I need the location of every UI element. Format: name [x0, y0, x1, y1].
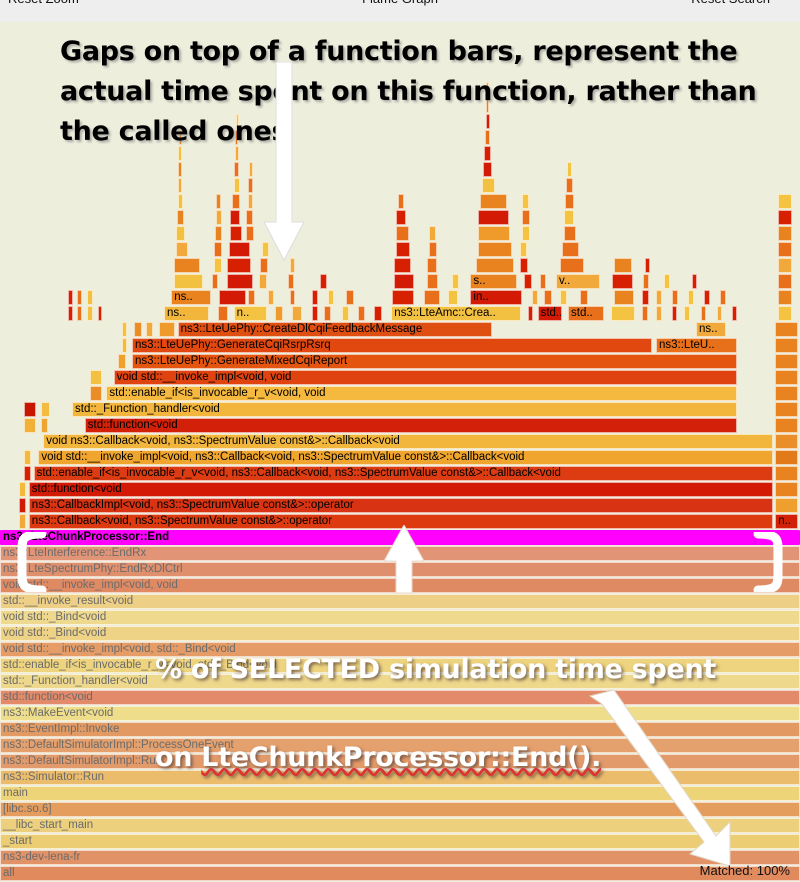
flame-frame[interactable] — [374, 306, 381, 321]
flame-frame[interactable]: ns3::LteSpectrumPhy::EndRxDlCtrl — [0, 562, 800, 577]
flame-frame[interactable] — [174, 274, 203, 289]
flame-frame[interactable] — [90, 386, 102, 401]
flame-frame[interactable] — [524, 274, 532, 289]
flame-frame[interactable]: in.. — [470, 290, 521, 305]
flame-frame[interactable] — [522, 210, 530, 225]
flame-frame[interactable]: std::function<void — [0, 690, 800, 705]
flame-frame[interactable] — [229, 242, 250, 257]
flame-frame[interactable] — [290, 258, 296, 273]
flame-frame[interactable] — [159, 322, 175, 337]
flame-frame[interactable] — [248, 178, 253, 193]
flame-frame[interactable]: void std::__invoke_impl<void, void — [114, 370, 737, 385]
flame-frame[interactable] — [778, 258, 792, 273]
flame-frame[interactable] — [230, 226, 241, 241]
flame-frame[interactable] — [614, 290, 633, 305]
flame-frame[interactable] — [656, 306, 662, 321]
flame-frame[interactable]: std::enable_if<is_invocable_r_v<void, vo… — [106, 386, 736, 401]
flame-frame[interactable] — [775, 466, 797, 481]
flame-frame[interactable] — [216, 210, 222, 225]
flame-frame[interactable]: std.. — [568, 306, 604, 321]
flame-frame[interactable] — [146, 322, 153, 337]
flame-frame[interactable] — [246, 226, 253, 241]
flame-frame[interactable]: ns3::EventImpl::Invoke — [0, 722, 800, 737]
flame-frame[interactable]: void std::_Bind<void — [0, 610, 800, 625]
flame-frame[interactable] — [24, 450, 31, 465]
flame-frame[interactable] — [19, 482, 26, 497]
flame-frame[interactable]: ns3::DefaultSimulatorImpl::ProcessOneEve… — [0, 738, 800, 753]
flame-frame[interactable] — [520, 258, 528, 273]
flame-frame[interactable] — [174, 258, 200, 273]
flame-frame[interactable] — [775, 418, 797, 433]
flame-frame[interactable] — [219, 290, 245, 305]
flame-frame[interactable] — [775, 402, 797, 417]
flame-frame[interactable]: n.. — [234, 306, 268, 321]
flame-frame[interactable] — [227, 258, 251, 273]
flame-frame[interactable] — [249, 162, 253, 177]
flame-frame[interactable] — [396, 226, 409, 241]
flame-frame[interactable] — [778, 290, 792, 305]
flame-frame[interactable] — [178, 162, 182, 177]
flame-frame[interactable] — [292, 306, 302, 321]
flame-frame[interactable] — [214, 242, 221, 257]
flame-frame[interactable] — [248, 290, 255, 305]
flame-frame[interactable] — [328, 290, 334, 305]
flame-frame[interactable] — [262, 242, 268, 257]
flame-frame[interactable] — [90, 370, 102, 385]
flame-frame[interactable] — [664, 274, 670, 289]
flame-frame[interactable] — [179, 130, 182, 145]
flame-frame[interactable] — [775, 322, 797, 337]
flame-frame[interactable]: ns3::LteUePhy::GenerateMixedCqiReport — [132, 354, 737, 369]
flame-frame[interactable] — [775, 338, 797, 353]
reset-search-button[interactable]: Reset Search — [691, 0, 770, 6]
flame-frame[interactable] — [234, 178, 240, 193]
flame-frame[interactable]: n.. — [775, 514, 797, 529]
flame-frame[interactable] — [358, 306, 364, 321]
flame-frame[interactable] — [672, 306, 677, 321]
flame-frame[interactable] — [701, 306, 706, 321]
flame-frame[interactable]: _start — [0, 834, 800, 849]
flame-frame[interactable]: ns3::Simulator::Run — [0, 770, 800, 785]
flame-frame[interactable]: void std::_Bind<void — [0, 626, 800, 641]
flame-frame[interactable] — [259, 274, 267, 289]
flame-frame[interactable] — [424, 290, 440, 305]
flame-frame[interactable] — [642, 290, 649, 305]
flame-frame[interactable] — [485, 130, 491, 145]
flame-frame[interactable]: ns3::LteInterference::EndRx — [0, 546, 800, 561]
flame-frame[interactable] — [98, 306, 103, 321]
flame-frame[interactable]: void std::__invoke_impl<void, void — [0, 578, 800, 593]
flamegraph-toolbar: Reset Zoom Flame Graph Reset Search ic — [0, 0, 800, 22]
flame-frame[interactable]: void std::__invoke_impl<void, ns3::Callb… — [38, 450, 772, 465]
flame-frame[interactable] — [246, 210, 252, 225]
flame-frame[interactable] — [230, 210, 240, 225]
flame-frame[interactable]: ns3::LteAmc::Crea.. — [391, 306, 521, 321]
flame-frame[interactable] — [520, 242, 527, 257]
page-title: Flame Graph — [0, 0, 800, 6]
flame-frame[interactable] — [24, 466, 31, 481]
flame-frame[interactable] — [540, 274, 546, 289]
flame-frame[interactable] — [448, 290, 458, 305]
flame-frame[interactable] — [236, 114, 239, 129]
flame-frame[interactable] — [118, 354, 126, 369]
flame-frame[interactable] — [290, 290, 296, 305]
flame-frame[interactable] — [398, 194, 404, 209]
flame-frame[interactable] — [564, 210, 574, 225]
flame-frame[interactable] — [643, 274, 649, 289]
flame-frame[interactable] — [778, 194, 792, 209]
flame-frame[interactable] — [275, 306, 283, 321]
flame-frame[interactable] — [720, 290, 726, 305]
flame-frame[interactable] — [486, 98, 489, 113]
flame-frame[interactable] — [452, 274, 459, 289]
flame-frame[interactable] — [346, 290, 353, 305]
flame-frame[interactable]: std::function<void — [85, 418, 737, 433]
flame-frame[interactable]: ns.. — [171, 290, 211, 305]
flame-frame[interactable] — [566, 178, 572, 193]
flame-frame[interactable] — [24, 402, 36, 417]
flame-frame[interactable] — [260, 258, 268, 273]
flame-frame[interactable] — [177, 210, 184, 225]
flame-frame[interactable] — [642, 306, 648, 321]
flame-frame[interactable] — [775, 434, 797, 449]
flame-frame[interactable] — [232, 194, 240, 209]
flame-frame[interactable] — [717, 306, 723, 321]
flame-frame[interactable]: ns3::LteUePhy::GenerateCqiRsrpRsrq — [132, 338, 652, 353]
flame-frame[interactable] — [429, 226, 436, 241]
flame-frame[interactable] — [178, 146, 182, 161]
flame-frame[interactable]: ns.. — [696, 322, 726, 337]
flame-frame[interactable] — [564, 226, 576, 241]
flame-frame[interactable] — [478, 226, 510, 241]
flame-frame[interactable] — [565, 194, 574, 209]
flame-frame[interactable] — [212, 274, 218, 289]
flame-frame[interactable] — [87, 290, 93, 305]
flame-frame[interactable] — [775, 498, 797, 513]
flame-frame[interactable] — [684, 306, 690, 321]
flame-frame[interactable] — [227, 274, 253, 289]
flame-frame[interactable] — [342, 306, 348, 321]
flame-frame[interactable] — [87, 306, 93, 321]
flame-frame[interactable] — [41, 418, 48, 433]
flame-frame[interactable] — [214, 258, 221, 273]
flame-frame[interactable] — [176, 242, 188, 257]
flame-frame[interactable] — [612, 274, 633, 289]
flame-frame[interactable] — [482, 178, 496, 193]
flame-frame[interactable] — [614, 258, 632, 273]
flame-frame[interactable] — [392, 290, 414, 305]
flame-frame[interactable] — [268, 290, 274, 305]
flame-frame[interactable] — [560, 290, 567, 305]
flame-frame[interactable] — [77, 306, 82, 321]
flame-frame[interactable]: std::enable_if<is_invocable_r_v<void, st… — [0, 658, 800, 673]
flame-frame[interactable] — [528, 306, 533, 321]
flame-frame[interactable]: std::_Function_handler<void — [0, 674, 800, 689]
flame-frame[interactable] — [234, 162, 239, 177]
flame-frame[interactable] — [775, 450, 797, 465]
flame-frame[interactable] — [429, 242, 437, 257]
flame-frame[interactable] — [484, 146, 491, 161]
flame-frame[interactable] — [778, 210, 792, 225]
flame-frame[interactable]: void std::__invoke_impl<void, std::_Bind… — [0, 642, 800, 657]
search-shortcut-hint: ic — [785, 0, 792, 2]
flame-frame[interactable] — [396, 210, 406, 225]
flame-frame[interactable] — [567, 162, 572, 177]
flamegraph-canvas[interactable]: allns3-dev-lena-fr_start__libc_start_mai… — [0, 22, 800, 882]
flame-frame[interactable] — [68, 306, 73, 321]
flame-frame[interactable]: ns3::Callback<void, ns3::SpectrumValue c… — [29, 514, 773, 529]
flame-frame[interactable] — [176, 226, 185, 241]
flame-frame[interactable]: ns.. — [164, 306, 209, 321]
flame-frame[interactable]: ns3::LteUePhy::CreateDlCqiFeedbackMessag… — [178, 322, 492, 337]
flame-frame[interactable] — [394, 258, 412, 273]
flame-frame[interactable]: all — [0, 866, 800, 881]
flame-frame[interactable] — [775, 354, 797, 369]
flame-frame[interactable] — [544, 290, 552, 305]
flame-frame[interactable] — [178, 178, 183, 193]
flame-frame[interactable] — [216, 194, 221, 209]
flame-frame[interactable] — [476, 258, 514, 273]
flame-frame[interactable] — [394, 274, 414, 289]
flame-frame[interactable]: ns3::LteU.. — [656, 338, 737, 353]
flame-frame[interactable] — [248, 194, 253, 209]
flame-frame[interactable] — [778, 274, 792, 289]
flame-frame[interactable] — [580, 290, 588, 305]
flame-frame-selected[interactable]: ns3::LteChunkProcessor::End — [0, 530, 800, 545]
flame-frame[interactable] — [611, 306, 635, 321]
flame-frame[interactable] — [312, 306, 318, 321]
flame-frame[interactable] — [41, 402, 51, 417]
flame-frame[interactable]: __libc_start_main — [0, 818, 800, 833]
flame-frame[interactable] — [122, 322, 128, 337]
flame-frame[interactable] — [218, 306, 228, 321]
flame-frame[interactable]: std::enable_if<is_invocable_r_v<void, ns… — [34, 466, 773, 481]
status-badge: Matched: 100% — [700, 863, 790, 878]
flame-frame[interactable]: void ns3::Callback<void, ns3::SpectrumVa… — [43, 434, 773, 449]
flame-frame[interactable] — [320, 274, 327, 289]
flame-frame[interactable] — [24, 418, 36, 433]
flame-frame[interactable] — [486, 82, 488, 97]
flame-frame[interactable] — [134, 322, 142, 337]
flame-frame[interactable] — [522, 194, 528, 209]
flame-frame[interactable]: std.. — [538, 306, 563, 321]
flame-frame[interactable] — [645, 258, 650, 273]
flame-frame[interactable] — [312, 290, 318, 305]
flame-frame[interactable] — [522, 226, 531, 241]
flame-frame[interactable]: ns3::DefaultSimulatorImpl::Run — [0, 754, 800, 769]
flame-frame[interactable] — [688, 290, 694, 305]
flame-frame[interactable] — [235, 130, 238, 145]
flame-frame[interactable] — [427, 258, 437, 273]
flame-frame[interactable] — [656, 290, 662, 305]
flame-frame[interactable] — [778, 242, 792, 257]
flame-frame[interactable]: ns3-dev-lena-fr — [0, 850, 800, 865]
flame-frame[interactable] — [478, 210, 508, 225]
flame-frame[interactable] — [692, 274, 697, 289]
flame-frame[interactable]: std::function<void — [29, 482, 773, 497]
flame-frame[interactable] — [775, 386, 797, 401]
flame-frame[interactable] — [480, 194, 507, 209]
flame-frame[interactable]: s.. — [470, 274, 516, 289]
flame-frame[interactable] — [427, 274, 437, 289]
flame-frame[interactable] — [532, 290, 538, 305]
flame-frame[interactable] — [324, 306, 331, 321]
flame-frame[interactable]: std::__invoke_result<void — [0, 594, 800, 609]
flame-frame[interactable]: std::_Function_handler<void — [72, 402, 737, 417]
flame-frame[interactable] — [77, 290, 82, 305]
flame-frame[interactable] — [732, 306, 737, 321]
flame-frame[interactable]: ns3::CallbackImpl<void, ns3::SpectrumVal… — [29, 498, 773, 513]
flame-frame[interactable] — [775, 370, 797, 385]
flame-frame[interactable] — [396, 242, 410, 257]
flame-frame[interactable] — [483, 162, 492, 177]
flame-frame[interactable]: v.. — [556, 274, 600, 289]
flame-frame[interactable] — [288, 274, 294, 289]
flame-frame[interactable] — [68, 290, 73, 305]
flame-frame[interactable] — [19, 514, 26, 529]
flame-frame[interactable] — [560, 258, 584, 273]
flame-frame[interactable] — [122, 338, 128, 353]
flame-frame[interactable]: main — [0, 786, 800, 801]
flame-frame[interactable] — [478, 242, 512, 257]
flame-frame[interactable] — [778, 226, 792, 241]
flame-frame[interactable] — [486, 114, 490, 129]
flame-frame[interactable] — [562, 242, 580, 257]
flame-frame[interactable]: [libc.so.6] — [0, 802, 800, 817]
flame-frame[interactable] — [178, 194, 184, 209]
flame-frame[interactable] — [235, 146, 239, 161]
flame-frame[interactable] — [778, 306, 792, 321]
flame-frame[interactable] — [775, 482, 797, 497]
flame-frame[interactable]: ns3::MakeEvent<void — [0, 706, 800, 721]
flame-frame[interactable] — [215, 226, 221, 241]
flame-frame[interactable] — [672, 290, 678, 305]
flame-frame[interactable] — [19, 498, 26, 513]
flame-frame[interactable] — [704, 290, 710, 305]
